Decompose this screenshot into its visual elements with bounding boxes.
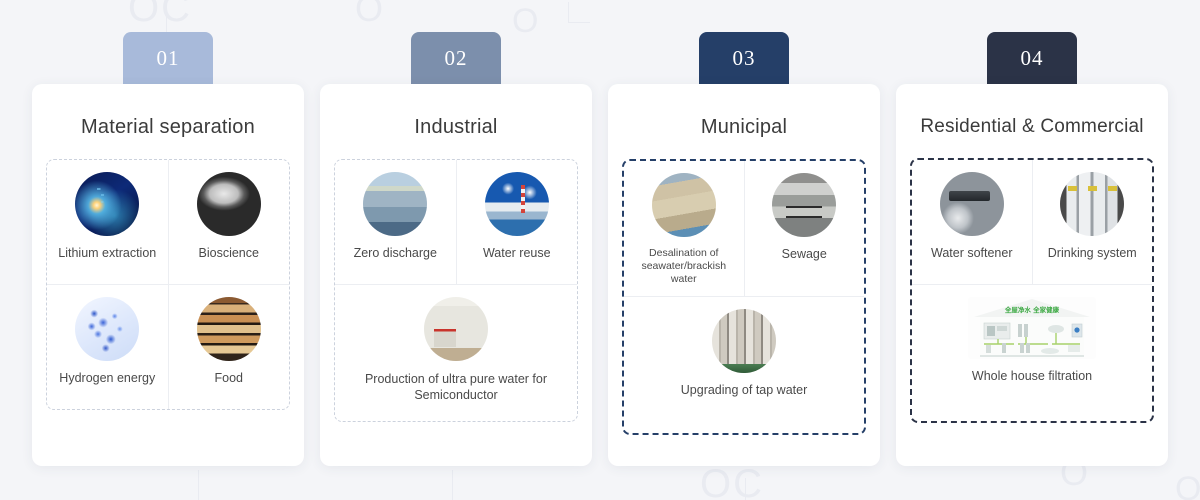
scenario-number-label: 02 <box>445 46 468 71</box>
card-title: Municipal <box>622 116 866 139</box>
background-watermark-line <box>198 470 199 500</box>
scenario-cell-label: Water reuse <box>483 246 551 262</box>
scenario-card-01[interactable]: Material separation Lithium extraction B… <box>32 84 304 466</box>
grid-row: Lithium extraction Bioscience <box>47 160 289 284</box>
scenario-card-04[interactable]: Residential & Commercial Water softener … <box>896 84 1168 466</box>
scenario-grid: Water softener Drinking system 全屋净水 <box>910 158 1154 423</box>
sewage-thumbnail <box>772 173 836 237</box>
drinking-system-thumbnail <box>1060 172 1124 236</box>
grid-row: Upgrading of tap water <box>624 296 864 433</box>
water-reuse-thumbnail <box>485 172 549 236</box>
scenario-number-tab-02[interactable]: 02 <box>411 32 501 84</box>
scenario-number-label: 01 <box>157 46 180 71</box>
scenario-cell[interactable]: Bioscience <box>168 160 290 284</box>
scenario-grid: Lithium extraction Bioscience Hydrogen e… <box>46 159 290 410</box>
grid-row: 全屋净水 全家健康 <box>912 284 1152 421</box>
scenario-cell[interactable]: Zero discharge <box>335 160 456 284</box>
card-title: Residential & Commercial <box>910 116 1154 138</box>
scenario-number-label: 04 <box>1021 46 1044 71</box>
lithium-extraction-thumbnail <box>75 172 139 236</box>
scenario-column-01: 01 Material separation Lithium extractio… <box>32 0 304 466</box>
scenario-cell[interactable]: Sewage <box>744 161 865 296</box>
scenario-column-04: 04 Residential & Commercial Water soften… <box>896 0 1168 466</box>
background-watermark: O <box>1175 470 1200 500</box>
scenario-card-03[interactable]: Municipal Desalination of seawater/brack… <box>608 84 880 466</box>
svg-text:全屋净水 全家健康: 全屋净水 全家健康 <box>1004 305 1060 314</box>
background-watermark: OC <box>700 462 764 500</box>
background-watermark-line <box>452 470 453 500</box>
scenario-cell[interactable]: Drinking system <box>1032 160 1153 284</box>
scenario-cell-label: Food <box>215 371 244 387</box>
grid-row: Desalination of seawater/brackish water … <box>624 161 864 296</box>
scenario-column-02: 02 Industrial Zero discharge Water reuse <box>320 0 592 466</box>
scenario-cell-label: Water softener <box>931 246 1013 262</box>
grid-row: Zero discharge Water reuse <box>335 160 577 284</box>
scenario-cell[interactable]: Water reuse <box>456 160 578 284</box>
grid-row: Hydrogen energy Food <box>47 284 289 409</box>
scenario-cell-label: Drinking system <box>1048 246 1137 262</box>
scenario-cell[interactable]: 全屋净水 全家健康 <box>912 285 1152 421</box>
hydrogen-energy-thumbnail <box>75 297 139 361</box>
scenario-cell[interactable]: Water softener <box>912 160 1032 284</box>
scenario-cell[interactable]: Production of ultra pure water for Semic… <box>335 285 577 421</box>
scenario-cell-label: Bioscience <box>199 246 259 262</box>
scenario-cell[interactable]: Lithium extraction <box>47 160 168 284</box>
scenario-cell[interactable]: Upgrading of tap water <box>624 297 864 433</box>
desalination-thumbnail <box>652 173 716 237</box>
scenario-number-tab-01[interactable]: 01 <box>123 32 213 84</box>
scenario-cell-label: Sewage <box>782 247 827 263</box>
background-watermark-line <box>745 478 746 500</box>
scenario-grid: Zero discharge Water reuse Production of… <box>334 159 578 422</box>
scenario-cell[interactable]: Hydrogen energy <box>47 285 168 409</box>
scenario-cell-label: Desalination of seawater/brackish water <box>628 247 740 286</box>
scenario-cell-label: Whole house filtration <box>972 369 1092 385</box>
scenario-grid: Desalination of seawater/brackish water … <box>622 159 866 435</box>
application-scenarios-board: OC O O OC O O 01 Material separation Lit… <box>0 0 1200 500</box>
card-title: Industrial <box>334 116 578 139</box>
scenario-cell-label: Production of ultra pure water for Semic… <box>339 371 573 404</box>
grid-row: Production of ultra pure water for Semic… <box>335 284 577 421</box>
scenario-cell[interactable]: Desalination of seawater/brackish water <box>624 161 744 296</box>
card-title: Material separation <box>46 116 290 139</box>
scenario-number-tab-04[interactable]: 04 <box>987 32 1077 84</box>
scenario-card-02[interactable]: Industrial Zero discharge Water reuse <box>320 84 592 466</box>
scenario-cell-label: Hydrogen energy <box>59 371 155 387</box>
whole-house-filtration-thumbnail: 全屋净水 全家健康 <box>968 297 1096 359</box>
scenario-column-03: 03 Municipal Desalination of seawater/br… <box>608 0 880 466</box>
scenario-number-label: 03 <box>733 46 756 71</box>
semiconductor-thumbnail <box>424 297 488 361</box>
water-softener-thumbnail <box>940 172 1004 236</box>
scenario-cell-label: Upgrading of tap water <box>681 383 807 399</box>
food-thumbnail <box>197 297 261 361</box>
bioscience-thumbnail <box>197 172 261 236</box>
scenario-cell-label: Lithium extraction <box>58 246 156 262</box>
tap-water-thumbnail <box>712 309 776 373</box>
scenario-cell-label: Zero discharge <box>354 246 437 262</box>
grid-row: Water softener Drinking system <box>912 160 1152 284</box>
zero-discharge-thumbnail <box>363 172 427 236</box>
scenario-number-tab-03[interactable]: 03 <box>699 32 789 84</box>
scenario-cell[interactable]: Food <box>168 285 290 409</box>
